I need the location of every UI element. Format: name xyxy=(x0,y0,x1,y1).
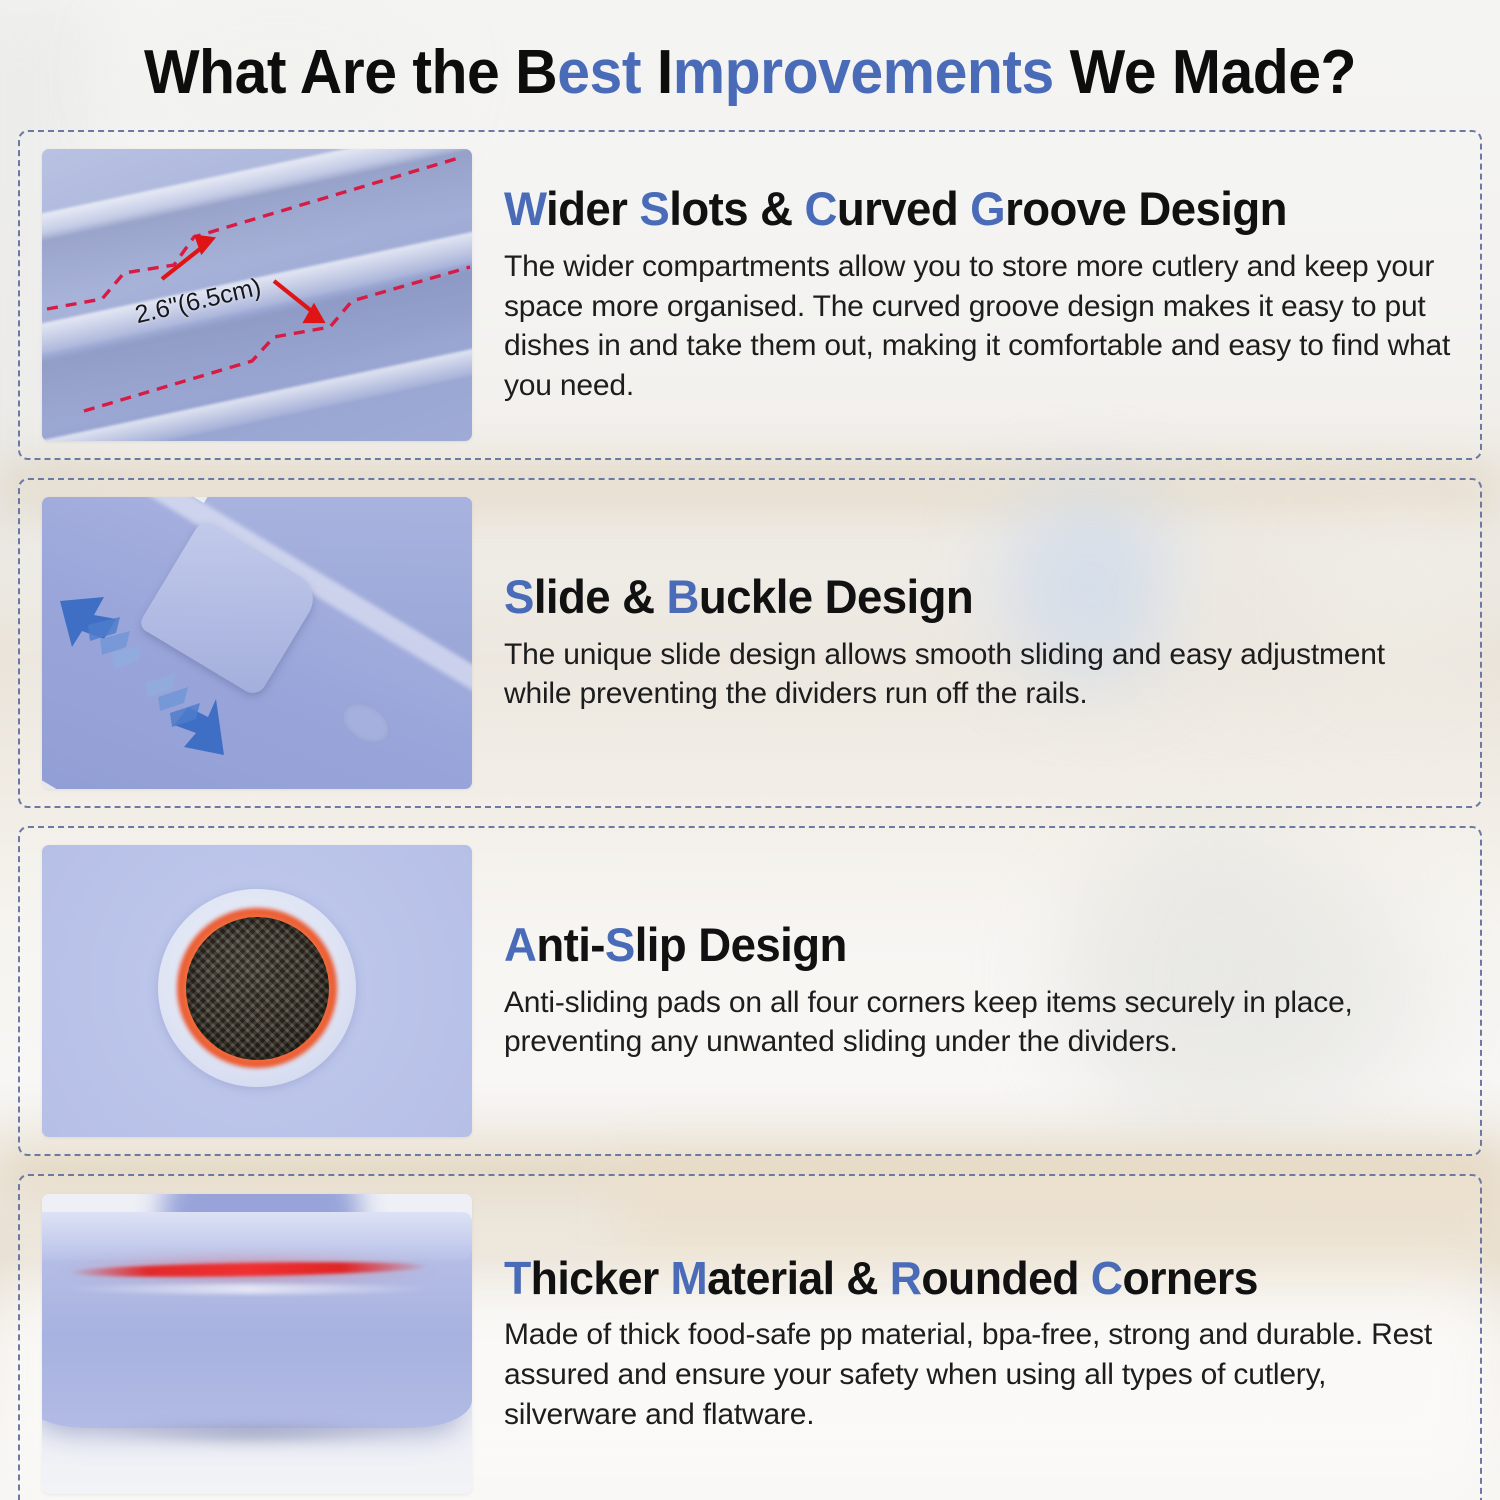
rounded-corner-illustration xyxy=(42,1194,472,1494)
page-title-part-1: What Are the xyxy=(144,38,515,107)
tray-drop-shadow xyxy=(102,1420,403,1446)
title-cap-m: M xyxy=(670,1252,707,1304)
title-cap-s: S xyxy=(639,182,669,235)
feature-copy-wider-slots: Wider Slots & Curved Groove Design The w… xyxy=(472,184,1458,405)
feature-copy-slide-buckle: Slide & Buckle Design The unique slide d… xyxy=(472,572,1458,714)
anti-slip-pad xyxy=(186,917,329,1060)
feature-copy-anti-slip: Anti-Slip Design Anti-sliding pads on al… xyxy=(472,920,1458,1062)
rounded-corner-photo xyxy=(42,1194,472,1494)
title-rest-lots: lots & xyxy=(669,182,804,235)
slide-buckle-photo xyxy=(42,497,472,789)
title-cap-g: G xyxy=(970,182,1005,235)
tray-crease-highlight xyxy=(59,1284,437,1294)
title-rest-lip: lip Design xyxy=(635,918,847,971)
wider-slots-illustration: 2.6"(6.5cm) xyxy=(42,149,472,441)
title-rest-aterial: aterial & xyxy=(707,1252,890,1304)
page-title-b-black: B xyxy=(515,38,557,107)
title-rest-urved: urved xyxy=(837,182,970,235)
feature-title-slide-buckle: Slide & Buckle Design xyxy=(504,572,1424,623)
feature-panel-wider-slots: 2.6"(6.5cm) Wider Slots & Curved Groove … xyxy=(18,130,1482,460)
feature-body-wider-slots: The wider compartments allow you to stor… xyxy=(504,247,1452,405)
title-cap-r: R xyxy=(890,1252,922,1304)
page-title-mprovements-blue: mprovements xyxy=(673,38,1054,107)
title-rest-roove: roove Design xyxy=(1005,182,1287,235)
feature-title-anti-slip: Anti-Slip Design xyxy=(504,920,1424,971)
feature-copy-thicker-material: Thicker Material & Rounded Corners Made … xyxy=(472,1254,1458,1434)
feature-panel-slide-buckle: Slide & Buckle Design The unique slide d… xyxy=(18,478,1482,808)
page-title-i-black: I xyxy=(657,38,673,107)
title-cap-c: C xyxy=(805,182,837,235)
title-cap-c: C xyxy=(1091,1252,1123,1304)
title-cap-w: W xyxy=(504,182,546,235)
tray-rim xyxy=(42,1212,472,1260)
title-rest-lide: lide & xyxy=(534,570,667,623)
page-title: What Are the Best Improvements We Made? xyxy=(38,0,1463,130)
wider-slots-photo: 2.6"(6.5cm) xyxy=(42,149,472,441)
infographic-page: What Are the Best Improvements We Made? xyxy=(0,0,1500,1500)
arrow-down-right-icon xyxy=(146,673,224,755)
page-title-part-2: We Made? xyxy=(1054,38,1356,107)
title-cap-b: B xyxy=(667,570,699,623)
feature-body-anti-slip: Anti-sliding pads on all four corners ke… xyxy=(504,983,1452,1062)
anti-slip-pad-photo xyxy=(42,845,472,1137)
page-title-est-blue: est xyxy=(557,38,657,107)
title-cap-s: S xyxy=(504,570,534,623)
title-cap-s: S xyxy=(605,918,635,971)
title-cap-a: A xyxy=(504,918,536,971)
title-cap-t: T xyxy=(504,1252,531,1304)
title-rest-nti: nti- xyxy=(536,918,605,971)
slide-direction-arrows xyxy=(42,497,472,789)
feature-panels: 2.6"(6.5cm) Wider Slots & Curved Groove … xyxy=(0,130,1500,1500)
arrow-up-left-icon xyxy=(60,597,142,669)
title-rest-uckle: uckle Design xyxy=(699,570,973,623)
title-rest-ider: ider xyxy=(546,182,639,235)
feature-title-thicker-material: Thicker Material & Rounded Corners xyxy=(504,1254,1424,1304)
feature-body-slide-buckle: The unique slide design allows smooth sl… xyxy=(504,635,1452,714)
feature-panel-anti-slip: Anti-Slip Design Anti-sliding pads on al… xyxy=(18,826,1482,1156)
feature-title-wider-slots: Wider Slots & Curved Groove Design xyxy=(504,184,1424,235)
feature-body-thicker-material: Made of thick food-safe pp material, bpa… xyxy=(504,1315,1452,1434)
slide-buckle-illustration xyxy=(42,497,472,789)
feature-panel-thicker-material: Thicker Material & Rounded Corners Made … xyxy=(18,1174,1482,1500)
title-rest-hicker: hicker xyxy=(531,1252,671,1304)
title-rest-orners: orners xyxy=(1122,1252,1257,1304)
anti-slip-illustration xyxy=(42,845,472,1137)
title-rest-ounded: ounded xyxy=(921,1252,1090,1304)
